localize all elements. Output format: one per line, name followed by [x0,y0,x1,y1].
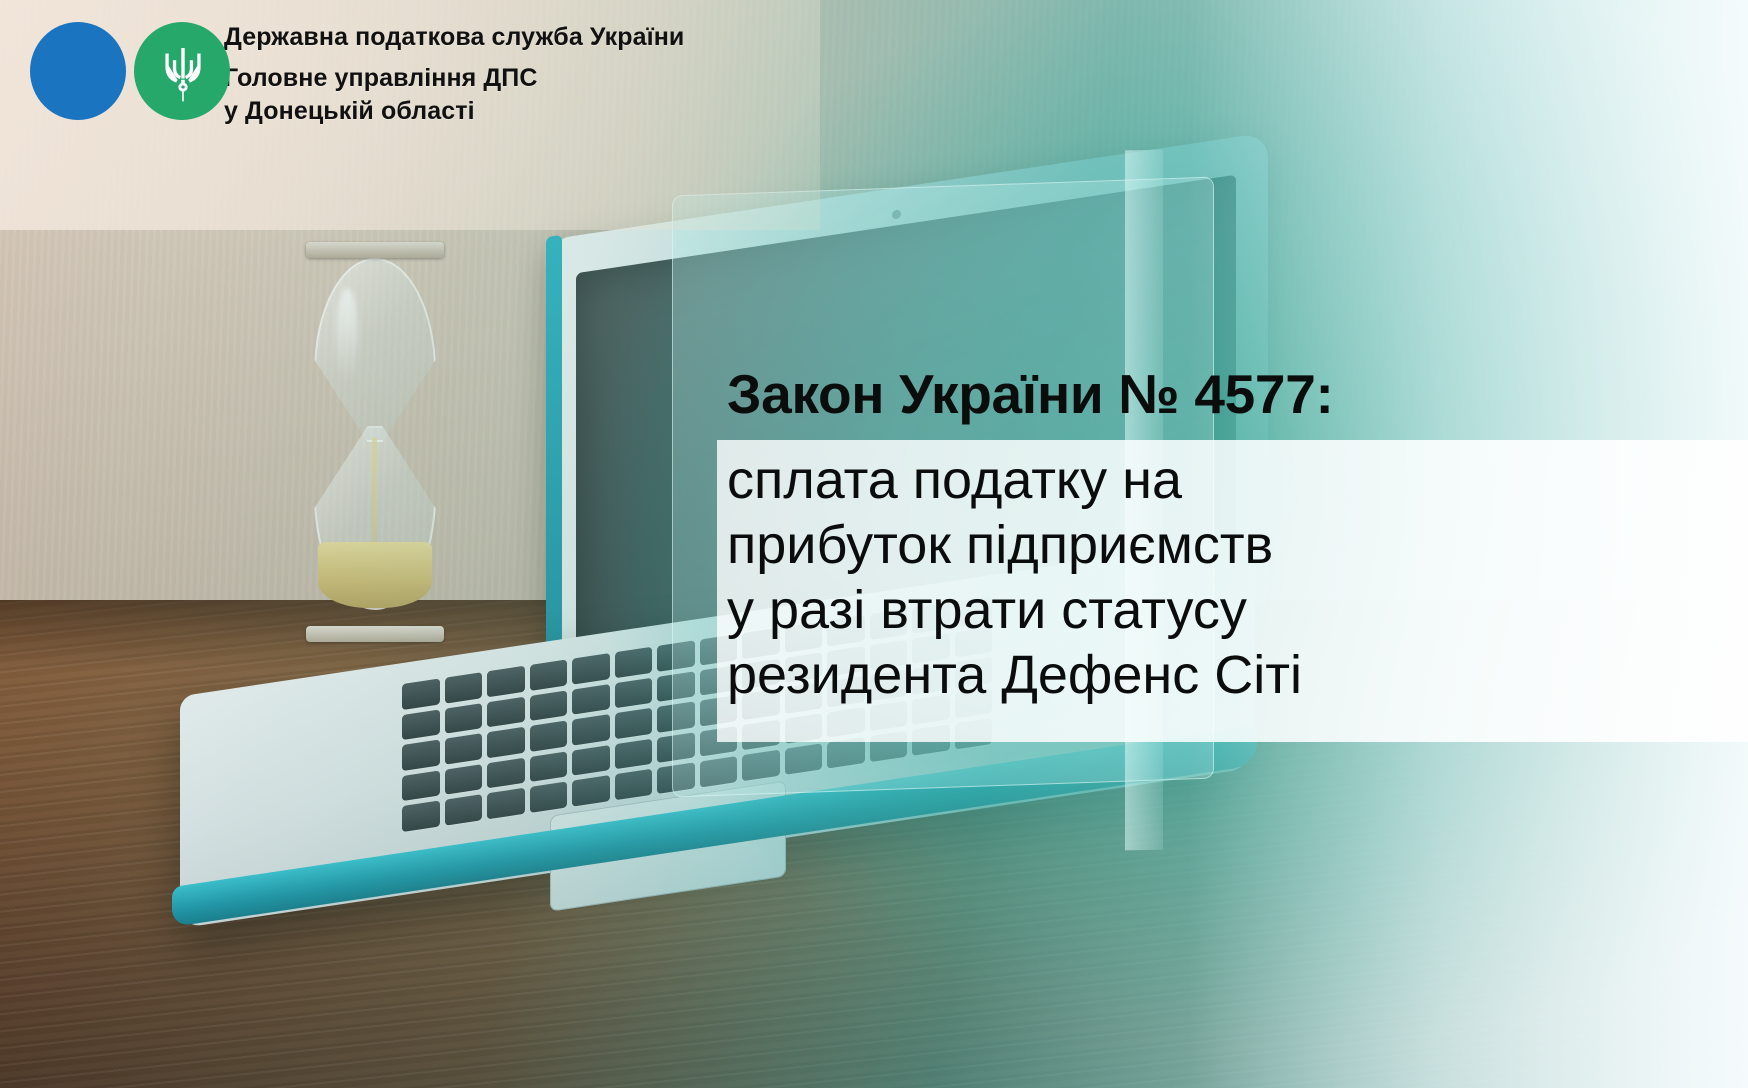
dps-logo [16,14,206,126]
body-line: резидента Дефенс Сіті [727,643,1748,708]
headline-title: Закон України № 4577: [727,362,1334,426]
body-line: прибуток підприємств [727,513,1748,578]
blue-circle-icon [30,22,126,120]
body-line: сплата податку на [727,448,1748,513]
body-line: у разі втрати статусу [727,578,1748,643]
department-line-1: Головне управління ДПС [224,62,684,95]
banner-canvas: Державна податкова служба України Головн… [0,0,1748,1088]
body-text-block: сплата податку на прибуток підприємств у… [727,448,1748,708]
brand-text-block: Державна податкова служба України Головн… [224,14,684,128]
department-line-2: у Донецькій області [224,95,684,128]
ukrainian-trident-icon [162,46,204,102]
agency-name: Державна податкова служба України [224,20,684,54]
brand-header: Державна податкова служба України Головн… [0,0,684,128]
